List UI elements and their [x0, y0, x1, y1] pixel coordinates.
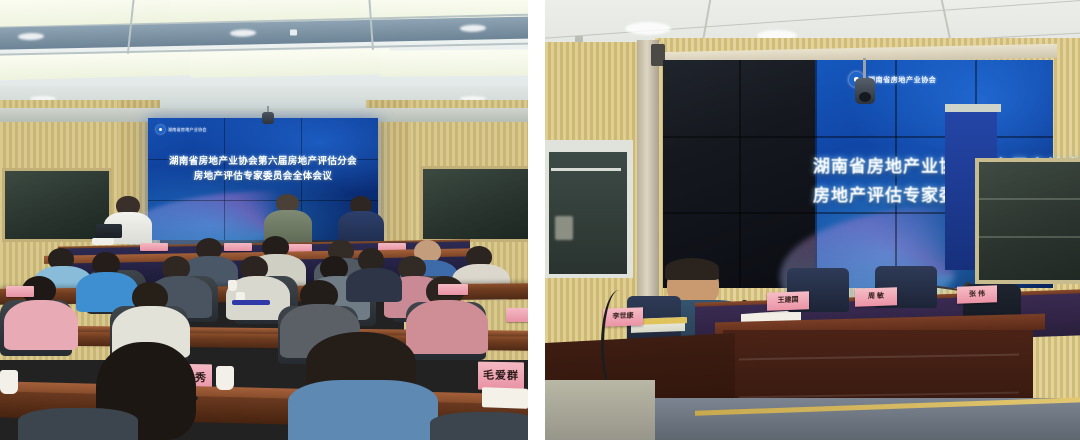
nameplate-text: 毛爱群 [478, 362, 524, 391]
video-wall-title: 湖南省房地产业协会第六届房地产评估分会 房地产评估专家委员会全体会议 [148, 154, 378, 184]
speaker-hair [665, 258, 719, 280]
audience-nameplate-maoaiqun: 毛爱群 [478, 362, 524, 391]
photo-right[interactable]: 湖南省房地产业协会 湖南省房地产业协会第六届房地产评估分会 房地产评估专家委员会… [545, 0, 1080, 440]
mug [216, 366, 234, 390]
nameplate: 张 伟 [957, 285, 997, 303]
desk-device [232, 300, 270, 305]
photo-left[interactable]: 湖南省房地产业协会 湖南省房地产业协会第六届房地产评估分会 房地产评估专家委员会… [0, 0, 528, 440]
laptop-screen [96, 224, 122, 238]
floor-left-area [545, 380, 655, 440]
audience-nameplate [438, 284, 468, 295]
notebook [482, 387, 528, 409]
head-table-nameplate [224, 243, 252, 251]
foreground-chair [18, 408, 138, 440]
mug [0, 370, 18, 394]
ceiling-vent-icon [625, 22, 671, 35]
panel-seam [739, 60, 741, 288]
association-logo: 湖南省房地产业协会 [156, 125, 207, 134]
head-table-nameplate [140, 243, 168, 251]
association-logo-icon [156, 125, 165, 134]
panelist-body [338, 211, 384, 244]
ceiling-camera-icon [262, 112, 274, 124]
blackboard-right [420, 166, 528, 242]
ceiling-camera-stem [863, 58, 866, 80]
blackboard-right [975, 158, 1080, 284]
nameplate: 王建国 [767, 291, 809, 310]
video-wall-title-line1: 湖南省房地产业协会第六届房地产评估分会 [148, 154, 378, 169]
audience-nameplate [6, 286, 34, 297]
audience-shoulders [406, 300, 488, 354]
video-wall-title-line2: 房地产评估专家委员会全体会议 [148, 169, 378, 184]
audience-shoulders [4, 300, 78, 350]
foreground-chair [430, 412, 528, 440]
panel-header [945, 104, 1001, 112]
foreground-shoulders [288, 380, 438, 440]
window-mullion [551, 168, 621, 171]
association-logo-text: 湖南省房地产业协会 [168, 127, 207, 133]
mug [228, 280, 237, 291]
ceiling-camera-icon [855, 78, 875, 104]
paper-stack [92, 238, 114, 245]
ceiling-light-panel [380, 49, 528, 77]
photo-collage: 湖南省房地产业协会 湖南省房地产业协会第六届房地产评估分会 房地产评估专家委员会… [0, 0, 1080, 440]
panel-seam [148, 200, 378, 201]
window-object [555, 216, 573, 240]
nameplate: 周 敏 [855, 287, 897, 306]
ceiling-light-panel [190, 48, 390, 77]
audience-nameplate [506, 308, 528, 322]
audience-shoulders [346, 268, 402, 302]
association-logo-text: 湖南省房地产业协会 [868, 75, 936, 85]
nameplate-text: 张 伟 [957, 285, 997, 303]
nameplate-text: 周 敏 [855, 287, 897, 306]
nameplate-text: 王建国 [767, 291, 809, 310]
